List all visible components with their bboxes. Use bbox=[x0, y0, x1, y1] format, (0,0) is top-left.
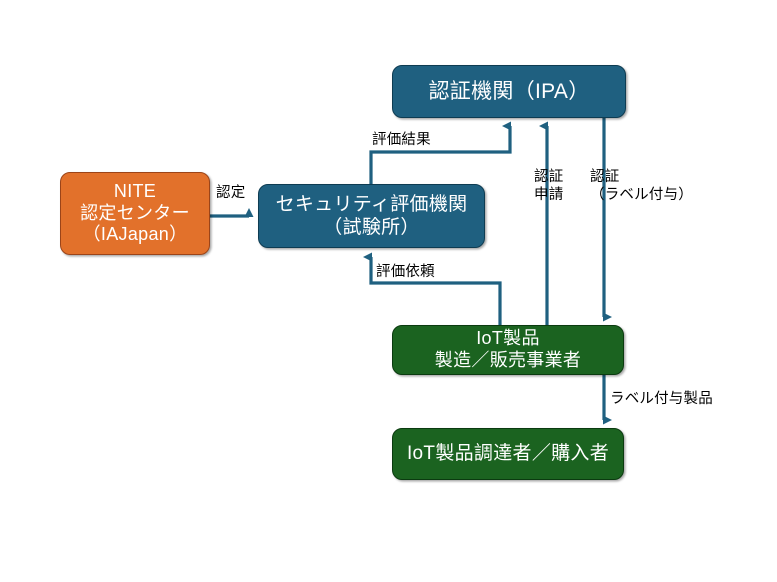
edge-label-certification-labeling: 認証 （ラベル付与） bbox=[590, 168, 693, 204]
node-iot-product-purchaser[interactable]: IoT製品調達者／購入者 bbox=[392, 428, 624, 480]
node-nite-accreditation-center[interactable]: NITE 認定センター （IAJapan） bbox=[60, 172, 210, 255]
edge-label-evaluation-result: 評価結果 bbox=[372, 131, 431, 149]
node-iot-product-manufacturer[interactable]: IoT製品 製造／販売事業者 bbox=[392, 325, 624, 375]
diagram-canvas: 認証機関（IPA） NITE 認定センター （IAJapan） セキュリティ評価… bbox=[0, 0, 777, 582]
edge-label-nintei: 認定 bbox=[216, 184, 245, 202]
edge-label-labeled-product: ラベル付与製品 bbox=[610, 390, 713, 408]
node-security-evaluation-lab[interactable]: セキュリティ評価機関 （試験所） bbox=[258, 184, 485, 248]
edge-label-evaluation-request: 評価依頼 bbox=[376, 263, 435, 281]
edge-label-certification-application: 認証 申請 bbox=[534, 168, 563, 204]
connector-layer bbox=[0, 0, 777, 582]
node-certification-body-ipa[interactable]: 認証機関（IPA） bbox=[392, 65, 626, 118]
